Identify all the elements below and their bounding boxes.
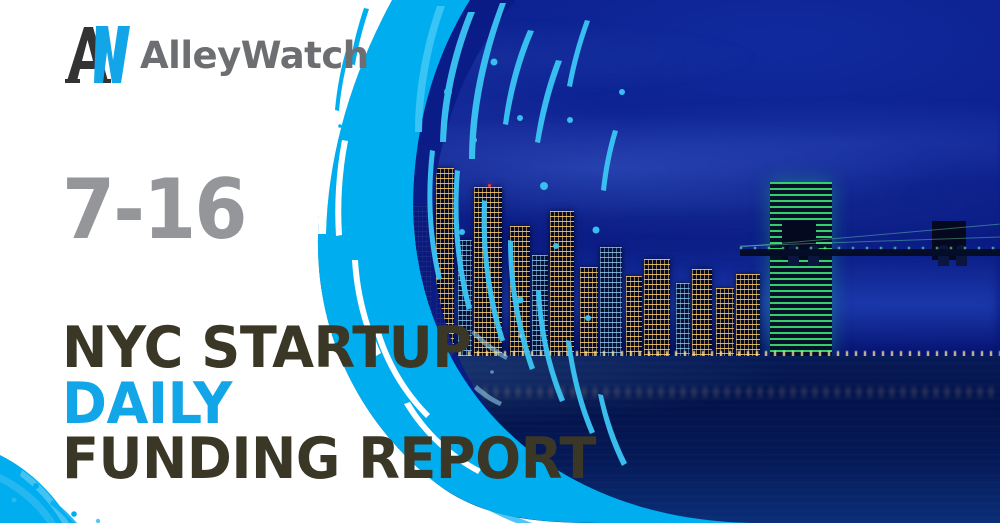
page-title: NYC STARTUP DAILY FUNDING REPORT [62,322,624,489]
headline-line-3: FUNDING REPORT [62,433,596,487]
funding-report-poster: AlleyWatch 7-16 NYC STARTUP DAILY FUNDIN… [0,0,1000,523]
alleywatch-aw-monogram-icon [60,24,136,86]
headline-line-1: NYC STARTUP [62,322,596,376]
alleywatch-logo[interactable]: AlleyWatch [60,20,369,90]
headline-line-2: DAILY [62,378,596,432]
alleywatch-wordmark: AlleyWatch [140,37,369,74]
report-date: 7-16 [62,168,246,251]
